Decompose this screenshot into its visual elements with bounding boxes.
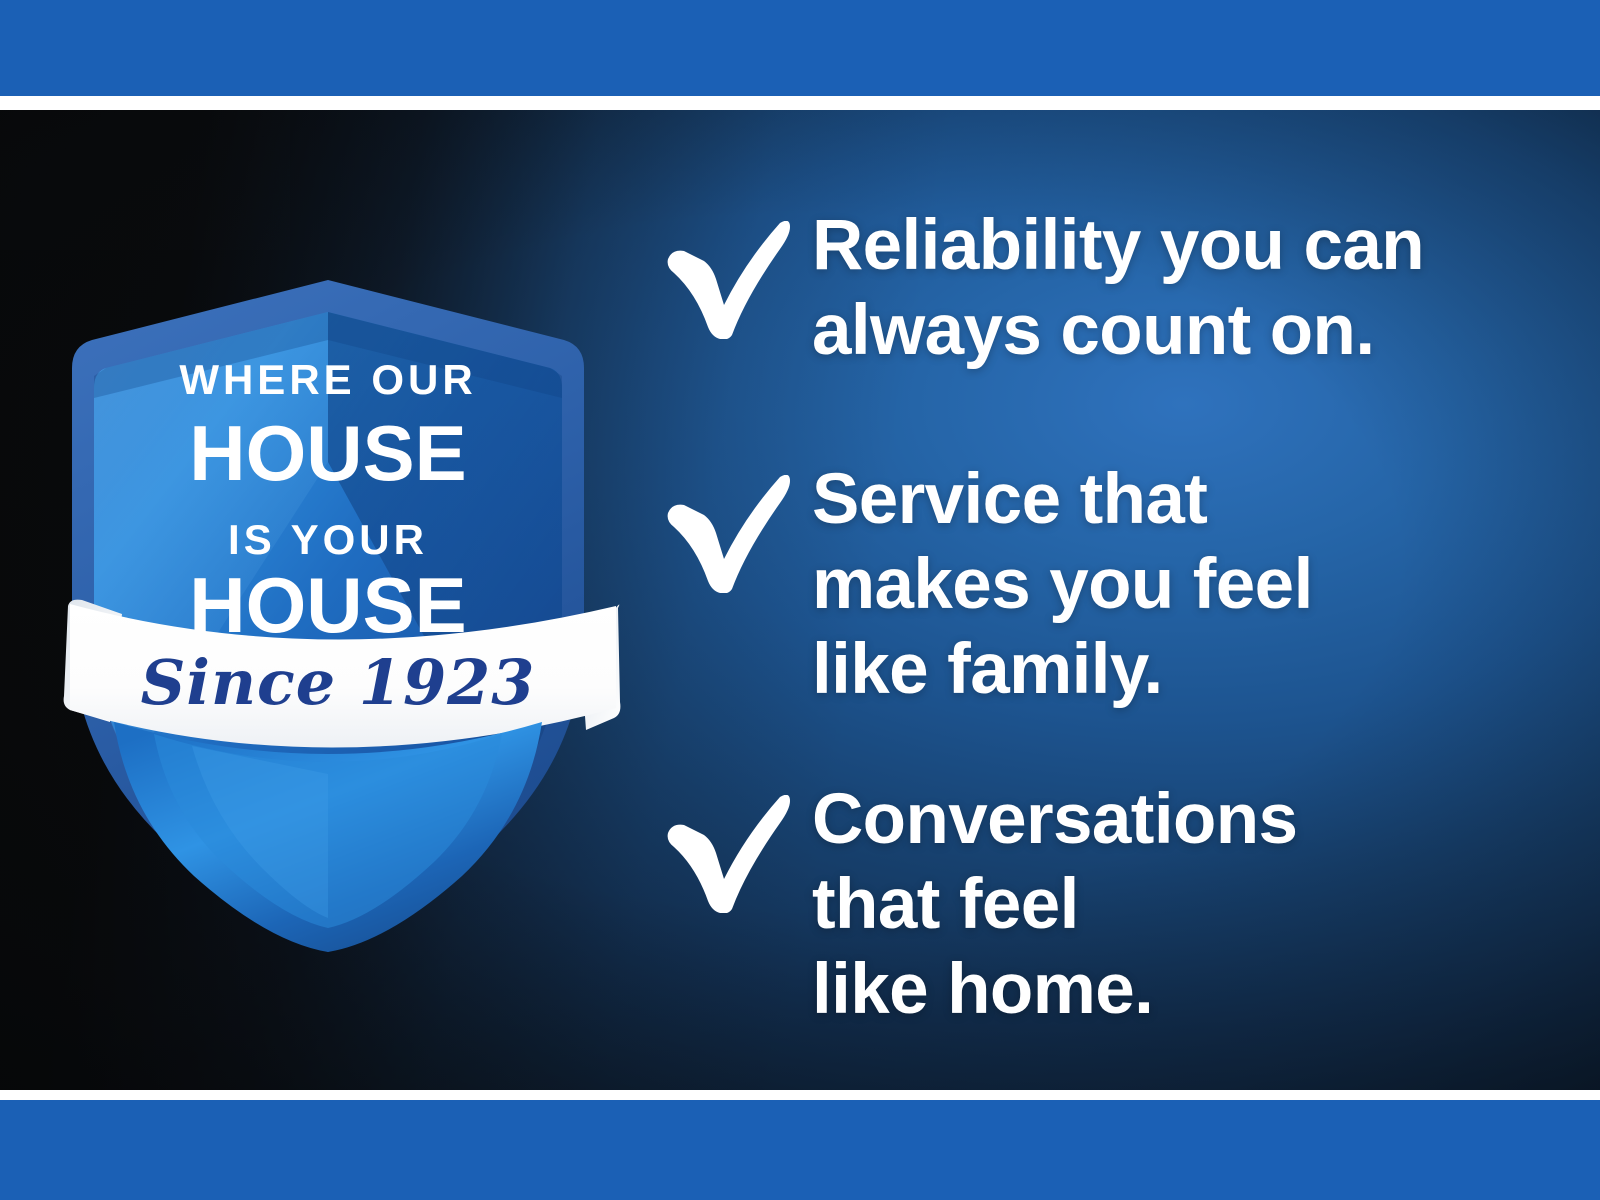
benefit-item-1: Reliability you can always count on.: [660, 203, 1424, 373]
shield-line-2: HOUSE: [189, 409, 466, 497]
check-icon: [660, 795, 792, 913]
benefit-item-3: Conversations that feel like home.: [660, 777, 1297, 1033]
promo-poster: WHERE OUR HOUSE IS YOUR HOUSE Since 1923…: [0, 0, 1600, 1200]
bottom-brand-bar: [0, 1100, 1600, 1200]
benefit-item-2: Service that makes you feel like family.: [660, 457, 1313, 713]
check-icon: [660, 221, 792, 339]
shield-line-1: WHERE OUR: [179, 356, 476, 403]
benefits-list: Reliability you can always count on. Ser…: [660, 185, 1560, 1035]
benefit-text-2: Service that makes you feel like family.: [812, 457, 1313, 713]
benefit-text-3: Conversations that feel like home.: [812, 777, 1297, 1033]
shield-emblem-svg: WHERE OUR HOUSE IS YOUR HOUSE Since 1923: [62, 162, 622, 952]
company-logo: WHERE OUR HOUSE IS YOUR HOUSE Since 1923: [62, 162, 622, 952]
top-brand-bar: [0, 0, 1600, 96]
shield-line-3: IS YOUR: [228, 516, 428, 563]
ribbon-label: Since 1923: [141, 646, 536, 719]
benefit-text-1: Reliability you can always count on.: [812, 203, 1424, 373]
check-icon: [660, 475, 792, 593]
